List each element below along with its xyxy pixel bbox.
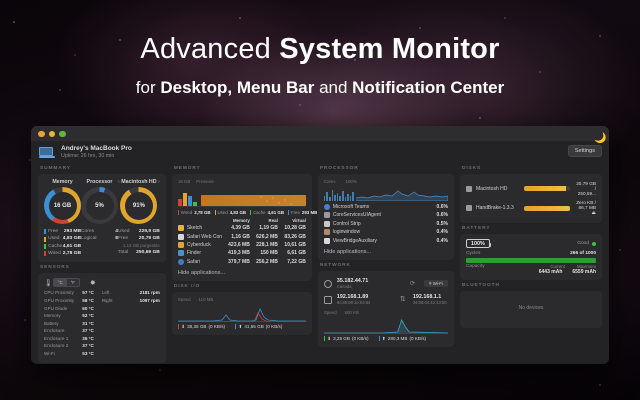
disk-usage-bar: [524, 206, 570, 211]
network-section-title: NETWORK: [318, 260, 454, 271]
table-row[interactable]: Cyberduck423,6 MB228,1 MB10,61 GB: [178, 241, 306, 249]
unit-celsius-option[interactable]: °C: [54, 279, 67, 286]
sensor-row: Enclosure 135 °C: [44, 335, 94, 343]
gauge-disk-label: ‹ Macintosh HD ›: [118, 179, 160, 185]
sensors-columns: CPU Proximity57 °C GPU Proximity58 °C GP…: [44, 289, 160, 357]
download-icon: ⬇: [327, 336, 331, 342]
network-chart: [324, 318, 448, 334]
network-panel: 35.182.44.71 Canada ⟳ ⌾ Wi-Fi 192.168.1.…: [318, 271, 454, 347]
sensor-value: 35 °C: [82, 335, 94, 343]
hero-title-bold: System Monitor: [279, 33, 499, 65]
download-total: 3,25 GB: [333, 336, 350, 341]
disk-usage-value: 20,79 GB / 250,69...: [576, 181, 596, 196]
diskio-sparkline: [178, 305, 306, 322]
process-value: 0.5%: [420, 221, 448, 227]
memory-stat-row: Free293 MB: [44, 228, 81, 235]
moon-icon: 🌙: [594, 133, 627, 144]
processor-ring-value: 5%: [95, 203, 104, 209]
process-name: loginwindow: [333, 229, 420, 235]
network-axis: Speed 500 KB: [324, 308, 448, 316]
cycles-label: Cycles: [466, 251, 570, 256]
gauge-memory-label: Memory: [44, 179, 81, 185]
public-ip-row: 35.182.44.71 Canada ⟳ ⌾ Wi-Fi: [324, 276, 448, 292]
memory-stats: Free293 MB Used4,83 GB Cache4,61 GB Wire…: [44, 228, 81, 257]
sensor-key: Enclosure 1: [44, 335, 82, 343]
fan-icon: ✸: [90, 279, 96, 287]
network-speed-label: Speed: [324, 310, 337, 315]
sensor-value: 31 °C: [82, 320, 94, 328]
memory-panel: 16 GB Pressure Wired2,78 GB Used4,83 GB …: [172, 174, 312, 281]
col-virtual: Virtual: [278, 218, 306, 223]
table-row[interactable]: Finder419,3 MB150 MB6,61 GB: [178, 249, 306, 257]
router-icon: ⇅: [400, 296, 408, 304]
window-header: Andrey's MacBook Pro Uptime: 26 hrs, 30 …: [31, 141, 609, 163]
sensor-value: 37 °C: [82, 342, 94, 350]
write-total: 41,55 GB: [244, 324, 263, 329]
sensor-row: Enclosure 237 °C: [44, 342, 94, 350]
cpu-scale-label: 100%: [346, 179, 448, 184]
app-memory: 4,39 GB: [222, 225, 250, 231]
bluetooth-section-title: BLUETOOTH: [460, 280, 602, 291]
sensor-row: Wi-Fi53 °C: [44, 350, 94, 358]
diskio-speed-label: Speed: [178, 297, 191, 302]
process-name: ViewBridgeAuxiliary: [333, 238, 420, 244]
write-icon: ⬆: [238, 324, 242, 330]
diskio-axis: Speed 110 MB: [178, 297, 306, 303]
sensor-row: Battery31 °C: [44, 320, 94, 328]
processor-stats: Cores4 Logical8: [81, 228, 118, 243]
disk-ring: 91%: [120, 187, 157, 224]
battery-cycles-row: Cycles266 of 1000: [466, 248, 596, 256]
sensor-value: 37 °C: [82, 327, 94, 335]
stat-key: Cores: [81, 228, 115, 235]
ssid-label: Wi-Fi: [433, 281, 443, 286]
download-rate: (0 KB/s): [352, 336, 369, 341]
write-rate: (0 KB/s): [266, 324, 283, 329]
cpu-sparkline: [356, 185, 448, 201]
upload-total: 280,3 MB: [388, 336, 408, 341]
eject-icon[interactable]: ⏏: [592, 210, 596, 215]
disk-stats: Used229,9 GB Free20,79 GB 1,13 GB purgea…: [118, 228, 160, 256]
process-name: CoreServicesUIAgent: [333, 212, 420, 218]
sensor-row: Enclosure37 °C: [44, 327, 94, 335]
app-virtual: 10,28 GB: [278, 225, 306, 231]
computer-icon: [324, 296, 332, 304]
process-value: 0.4%: [420, 229, 448, 235]
hero-title-light: Advanced: [140, 33, 279, 65]
app-memory: 423,6 MB: [222, 242, 250, 248]
process-name: Microsoft Teams: [333, 204, 420, 210]
hero-headline: Advanced System Monitor for Desktop, Men…: [0, 34, 640, 98]
diskio-footer: ⬇38,36 GB(0 KB/s) ⬆41,55 GB(0 KB/s): [178, 322, 306, 330]
gauge-processor-label: Processor: [81, 179, 118, 185]
app-name: Finder: [187, 250, 222, 256]
machine-name: Andrey's MacBook Pro: [61, 145, 132, 154]
local-ip-value: 192.168.1.89: [337, 294, 395, 301]
app-virtual: 10,61 GB: [278, 242, 306, 248]
read-icon: ⬇: [181, 324, 185, 330]
disk-usage-bar: [524, 186, 570, 191]
stat-key: Free: [48, 228, 64, 235]
read-rate: (0 KB/s): [209, 324, 226, 329]
disks-section-title: DISKS: [460, 163, 602, 174]
legend-key: Free: [291, 210, 300, 215]
processor-section-title: PROCESSOR: [318, 163, 454, 174]
upload-rate: (0 KB/s): [409, 336, 426, 341]
stat-value: 250,69 GB: [136, 249, 160, 256]
app-real: 150 MB: [250, 250, 278, 256]
read-total: 38,36 GB: [187, 324, 206, 329]
window-titlebar: [31, 126, 609, 141]
battery-header: 100% Good: [466, 239, 596, 248]
sensor-key: Memory: [44, 312, 82, 320]
summary-gauges: Memory 16 GB Free293 MB Used4,83 GB Cach…: [44, 179, 160, 257]
processor-stat-row: Logical8: [81, 235, 118, 242]
refresh-icon[interactable]: ⟳: [410, 280, 415, 287]
current-value: 6443 mAh: [539, 269, 563, 275]
disk-name: Macintosh HD: [476, 186, 524, 192]
sensor-key: Enclosure 2: [44, 342, 82, 350]
sensor-value: 57 °C: [82, 289, 94, 297]
stat-key: Wired: [48, 250, 63, 257]
router-mac-value: 34:08:04:42:13:50: [413, 300, 448, 305]
column-disks-battery-bluetooth: DISKS Macintosh HD 20,79 GB / 250,69... …: [460, 163, 602, 364]
router-ip-value: 192.168.1.1: [413, 294, 448, 301]
sensor-row: GPU Diode60 °C: [44, 305, 94, 313]
app-real: 228,1 MB: [250, 242, 278, 248]
battery-section-title: BATTERY: [460, 223, 602, 234]
memory-stat-row: Wired2,78 GB: [44, 250, 81, 257]
memory-stat-row: Used4,83 GB: [44, 235, 81, 242]
fan-key: Right: [102, 297, 140, 305]
battery-health-label: Good: [577, 241, 589, 246]
gauge-memory: Memory 16 GB Free293 MB Used4,83 GB Cach…: [44, 179, 81, 257]
app-memory: 1,16 GB: [222, 234, 250, 240]
maximum-value: 6559 mAh: [572, 269, 596, 275]
globe-icon: [324, 280, 332, 288]
disk-stat-row: Free20,79 GB: [118, 235, 160, 242]
fan-value: 1097 rpm: [140, 297, 160, 305]
hide-applications-link[interactable]: Hide applications...: [178, 266, 306, 276]
memory-bar: [193, 202, 197, 206]
stat-key: Used: [118, 228, 139, 235]
sensor-value: 53 °C: [82, 350, 94, 358]
memory-bar: [183, 193, 187, 206]
fan-value: 2181 rpm: [140, 289, 160, 297]
stat-key: Free: [118, 235, 139, 242]
disk-usage-value: Zero KB / 86,7 MB: [576, 200, 596, 210]
processor-ring: 5%: [81, 187, 118, 224]
sensors-panel: 🌡 °C °F ✸ CPU Proximity57 °C GPU Proximi…: [38, 273, 166, 362]
disk-stat-row: Total250,69 GB: [118, 249, 160, 256]
app-window: Andrey's MacBook Pro Uptime: 26 hrs, 30 …: [31, 126, 609, 364]
memory-table-head: Memory Real Virtual: [178, 215, 306, 224]
table-row[interactable]: ViewBridgeAuxiliary0.4%: [324, 236, 448, 244]
diskio-chart: [178, 305, 306, 322]
table-row[interactable]: Control Strip0.5%: [324, 220, 448, 228]
stat-key: Logical: [81, 235, 115, 242]
local-ip-row: 192.168.1.89 8c:85:90:1e:63:84 ⇅ 192.168…: [324, 292, 448, 308]
memory-chart: [178, 185, 306, 207]
diskio-section-title: DISK I/O: [172, 281, 312, 292]
disk-ring-value: 91%: [133, 203, 145, 209]
disk-name: HandBrake-1.3.3: [476, 205, 524, 211]
stat-value: 2,78 GB: [63, 250, 81, 257]
disk-stat-row: Used229,9 GB: [118, 228, 160, 235]
drive-icon: [466, 186, 472, 192]
fan-list: Left2181 rpm Right1097 rpm: [102, 289, 160, 357]
sensor-value: 52 °C: [82, 312, 94, 320]
public-ip-value: 35.182.44.71: [337, 278, 405, 285]
hero-title-line1: Advanced System Monitor: [0, 34, 640, 66]
column-memory-diskio: MEMORY 16 GB Pressure Wired2,78 GB: [172, 163, 312, 364]
processor-panel: Cores 100% Microso: [318, 174, 454, 260]
sensor-value: 58 °C: [82, 297, 94, 305]
sensor-key: Wi-Fi: [44, 350, 82, 358]
bluetooth-panel: No devices: [460, 291, 602, 328]
unit-toggle[interactable]: °C °F: [53, 278, 80, 287]
table-row[interactable]: Safari379,7 MB256,2 MB7,22 GB: [178, 258, 306, 266]
diskio-scale-label: 110 MB: [199, 297, 306, 302]
legend-key: Wired: [181, 210, 192, 215]
process-value: 0.6%: [420, 204, 448, 210]
sensors-section-title: SENSORS: [38, 262, 166, 273]
app-memory: 379,7 MB: [222, 259, 250, 265]
battery-capacity-values: 6443 mAh 6559 mAh: [466, 269, 596, 275]
unit-fahrenheit-option[interactable]: °F: [67, 279, 79, 286]
memory-ring: 16 GB: [44, 187, 81, 224]
process-name: Control Strip: [333, 221, 420, 227]
sensor-key: CPU Proximity: [44, 289, 82, 297]
bluetooth-empty-state: No devices: [466, 296, 596, 323]
fan-key: Left: [102, 289, 140, 297]
cores-label: Cores: [324, 179, 336, 184]
memory-pressure-bar: [201, 195, 306, 206]
memory-bar: [178, 199, 182, 206]
sensor-row: GPU Proximity58 °C: [44, 297, 94, 305]
app-name: Cyberduck: [187, 242, 222, 248]
uptime-label: Uptime: 26 hrs, 30 min: [61, 153, 132, 160]
hero-subtitle: for Desktop, Menu Bar and Notification C…: [0, 78, 640, 98]
show-more-link[interactable]: Show more...: [38, 363, 166, 364]
column-summary-sensors: SUMMARY Memory 16 GB Free293 MB Used4,83…: [38, 163, 166, 364]
disk-purgeable: 1,13 GB purgeable: [118, 243, 160, 248]
diskio-read: ⬇38,36 GB(0 KB/s): [178, 324, 225, 330]
memory-scale-label: 16 GB: [178, 179, 190, 184]
disks-panel: Macintosh HD 20,79 GB / 250,69... HandBr…: [460, 174, 602, 223]
window-controls[interactable]: [38, 131, 66, 138]
macbook-icon: [39, 147, 55, 158]
app-name: Safari: [187, 259, 222, 265]
process-value: 0.4%: [420, 238, 448, 244]
stat-value: 293 MB: [64, 228, 81, 235]
legend-item: Used4,83 GB: [215, 210, 247, 215]
legend-key: Used: [217, 210, 227, 215]
stat-key: Used: [48, 235, 63, 242]
local-mac-value: 8c:85:90:1e:63:84: [337, 300, 395, 305]
gauge-processor: Processor 5% Cores4 Logical8: [81, 179, 118, 257]
table-row[interactable]: CoreServicesUIAgent0.6%: [324, 211, 448, 219]
sensors-toolbar: 🌡 °C °F ✸: [44, 278, 160, 287]
network-download: ⬇3,25 GB(0 KB/s): [324, 336, 369, 342]
fan-row: Left2181 rpm: [102, 289, 160, 297]
stat-value: 4,83 GB: [63, 235, 81, 242]
table-row[interactable]: loginwindow0.4%: [324, 228, 448, 236]
stat-value: 229,9 GB: [139, 228, 160, 235]
table-row[interactable]: Sketch4,39 GB1,19 GB10,28 GB: [178, 224, 306, 232]
sensor-row: CPU Proximity57 °C: [44, 289, 94, 297]
fan-row: Right1097 rpm: [102, 297, 160, 305]
temperature-list: CPU Proximity57 °C GPU Proximity58 °C GP…: [44, 289, 94, 357]
legend-item: Wired2,78 GB: [178, 210, 211, 215]
sub-and: and: [314, 78, 352, 97]
sensor-row: Memory52 °C: [44, 312, 94, 320]
maximize-icon[interactable]: [59, 131, 66, 138]
col-memory: Memory: [222, 218, 250, 223]
app-real: 626,2 MB: [250, 234, 278, 240]
process-value: 0.6%: [420, 212, 448, 218]
diskio-write: ⬆41,55 GB(0 KB/s): [235, 324, 282, 330]
app-virtual: 7,22 GB: [278, 259, 306, 265]
network-upload: ⬆280,3 MB(0 KB/s): [379, 336, 427, 342]
memory-pressure-label: Pressure: [196, 179, 306, 184]
summary-section-title: SUMMARY: [38, 163, 166, 174]
sensor-key: GPU Diode: [44, 305, 82, 313]
disk-name: Macintosh HD: [121, 179, 156, 185]
processor-stat-row: Cores4: [81, 228, 118, 235]
cpu-core-bars: [324, 185, 354, 201]
app-name: Safari Web Content: [187, 234, 222, 240]
sub-notification: Notification Center: [352, 78, 504, 97]
battery-percent: 100%: [466, 239, 490, 248]
legend-value: 4,61 GB: [268, 210, 284, 215]
cycles-value: 266 of 1000: [570, 251, 596, 256]
legend-value: 293 MB: [302, 210, 317, 215]
gauge-disk: ‹ Macintosh HD › 91% Used229,9 GB Free20…: [118, 179, 160, 257]
table-row[interactable]: Microsoft Teams0.6%: [324, 201, 448, 211]
capacity-label: Capacity: [466, 264, 550, 269]
disk-row[interactable]: Macintosh HD 20,79 GB / 250,69...: [466, 179, 596, 198]
column-processor-network: PROCESSOR Cores 100%: [318, 163, 454, 364]
app-name: Sketch: [187, 225, 222, 231]
legend-item: Free293 MB: [288, 210, 317, 215]
settings-button[interactable]: Settings: [568, 145, 602, 157]
memory-section-title: MEMORY: [172, 163, 312, 174]
app-virtual: 6,61 GB: [278, 250, 306, 256]
hide-applications-link[interactable]: Hide applications...: [324, 245, 448, 255]
cpu-charts: [324, 185, 448, 201]
battery-panel: 100% Good Cycles266 of 1000 Capacity Cur…: [460, 234, 602, 280]
app-virtual: 83,26 GB: [278, 234, 306, 240]
memory-ring-value: 16 GB: [54, 203, 71, 209]
diskio-panel: Speed 110 MB ⬇38,36 GB(0 KB/s) ⬆41,55 GB…: [172, 292, 312, 335]
battery-health: Good: [577, 241, 596, 246]
upload-icon: ⬆: [382, 336, 386, 342]
network-scale-label: 500 KB: [345, 310, 448, 315]
chevron-right-icon[interactable]: ›: [157, 179, 160, 185]
sensor-key: Enclosure: [44, 327, 82, 335]
sub-menubar: Menu Bar: [237, 78, 314, 97]
stat-key: Total: [118, 249, 136, 256]
disk-row[interactable]: HandBrake-1.3.3 Zero KB / 86,7 MB ⏏: [466, 198, 596, 218]
sensor-key: GPU Proximity: [44, 297, 82, 305]
dashboard-grid: SUMMARY Memory 16 GB Free293 MB Used4,83…: [31, 163, 609, 364]
drive-icon: [466, 205, 472, 211]
memory-bar: [188, 196, 192, 206]
table-row[interactable]: Safari Web Content1,16 GB626,2 MB83,26 G…: [178, 232, 306, 240]
memory-stat-row: Cache4,61 GB: [44, 243, 81, 250]
sensor-value: 60 °C: [82, 305, 94, 313]
stat-value: 4,61 GB: [63, 243, 81, 250]
sensor-key: Battery: [44, 320, 82, 328]
window-body: Andrey's MacBook Pro Uptime: 26 hrs, 30 …: [31, 141, 609, 364]
legend-value: 2,78 GB: [194, 210, 210, 215]
app-real: 256,2 MB: [250, 259, 278, 265]
minimize-icon[interactable]: [49, 131, 56, 138]
app-real: 1,19 GB: [250, 225, 278, 231]
col-real: Real: [250, 218, 278, 223]
app-memory: 419,3 MB: [222, 250, 250, 256]
close-icon[interactable]: [38, 131, 45, 138]
legend-key: Cache: [253, 210, 266, 215]
public-ip-country: Canada: [337, 284, 405, 289]
network-sparkline: [324, 318, 448, 334]
legend-item: Cache4,61 GB: [250, 210, 284, 215]
stat-key: Cache: [48, 243, 63, 250]
network-footer: ⬇3,25 GB(0 KB/s) ⬆280,3 MB(0 KB/s): [324, 334, 448, 342]
sub-desktop: Desktop,: [160, 78, 232, 97]
sub-for: for: [136, 78, 161, 97]
health-dot-icon: [592, 242, 596, 246]
legend-value: 4,83 GB: [230, 210, 246, 215]
summary-panel: Memory 16 GB Free293 MB Used4,83 GB Cach…: [38, 174, 166, 262]
ssid-badge: ⌾ Wi-Fi: [424, 280, 448, 287]
thermometer-icon: 🌡: [44, 279, 53, 287]
stat-value: 20,79 GB: [139, 235, 160, 242]
